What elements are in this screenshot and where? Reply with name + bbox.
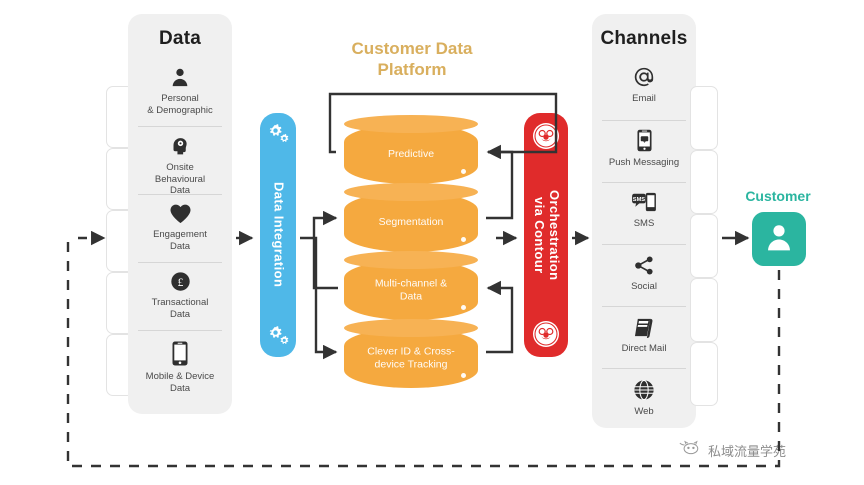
head-gear-icon (138, 135, 222, 162)
channel-item-social[interactable]: Social (602, 244, 686, 306)
cdp-layer-label: Multi-channel &Data (350, 278, 472, 303)
data-integration-bar[interactable]: Data Integration (260, 113, 296, 357)
share-icon (602, 255, 686, 281)
channels-bracket-notch-4 (690, 278, 718, 342)
cdp-layer-label: Clever ID & Cross-device Tracking (350, 346, 472, 371)
arrow-segmentation-to-predictive (486, 152, 512, 218)
channel-item-web[interactable]: Web (602, 368, 686, 430)
data-item-list: Personal& Demographic Onsite Behavioural… (138, 60, 222, 406)
cylinder-cap (344, 115, 478, 133)
data-item-label: Onsite BehaviouralData (138, 162, 222, 197)
cdp-title: Customer Data Platform (326, 38, 498, 80)
data-item-label: TransactionalData (138, 297, 222, 320)
diagram-canvas: Data Personal& Demographic Onsite Behavi… (0, 0, 864, 485)
channels-panel-title: Channels (592, 28, 696, 50)
cylinder-status-dot (461, 169, 466, 174)
cdp-layer-segmentation[interactable]: Segmentation (344, 192, 478, 252)
data-item-label: Mobile & DeviceData (138, 371, 222, 394)
arrow-multichannel-to-segmentation (314, 218, 338, 288)
at-sign-icon (602, 66, 686, 93)
globe-icon (602, 379, 686, 406)
data-item-personal[interactable]: Personal& Demographic (138, 60, 222, 126)
customer-avatar-icon (763, 221, 795, 258)
watermark: 私域流量学苑 (678, 440, 786, 460)
data-item-transactional[interactable]: £ TransactionalData (138, 262, 222, 330)
data-item-label: Personal& Demographic (138, 93, 222, 116)
cdp-layer-clever-id[interactable]: Clever ID & Cross-device Tracking (344, 328, 478, 388)
cylinder-status-dot (461, 237, 466, 242)
data-panel: Data Personal& Demographic Onsite Behavi… (128, 14, 232, 414)
contour-logo-icon (524, 320, 568, 348)
customer-label: Customer (722, 188, 834, 204)
customer-box[interactable] (752, 212, 806, 266)
data-item-engagement[interactable]: EngagementData (138, 194, 222, 262)
channels-bracket-notch-3 (690, 214, 718, 278)
data-item-mobile-device[interactable]: Mobile & DeviceData (138, 330, 222, 402)
sms-icon: SMS (602, 191, 686, 218)
cylinder-cap (344, 183, 478, 201)
channel-item-direct-mail[interactable]: Direct Mail (602, 306, 686, 368)
arrow-cleverid-to-multichannel (486, 288, 512, 352)
svg-text:£: £ (177, 277, 183, 289)
channels-bracket-notch-2 (690, 150, 718, 214)
data-item-onsite-behavioural[interactable]: Onsite BehaviouralData (138, 126, 222, 194)
cylinder-status-dot (461, 373, 466, 378)
orchestration-bar[interactable]: Orchestrationvia Contour (524, 113, 568, 357)
channel-item-label: Web (602, 406, 686, 418)
channels-bracket-notch-1 (690, 86, 718, 150)
channel-item-label: Push Messaging (602, 157, 686, 169)
data-integration-label: Data Integration (260, 113, 296, 357)
cdp-layer-multichannel[interactable]: Multi-channel &Data (344, 260, 478, 320)
cdp-title-line2: Platform (378, 60, 447, 79)
data-panel-title: Data (128, 28, 232, 50)
channels-panel: Channels Email Push Messaging SMS SMS (592, 14, 696, 428)
watermark-text: 私域流量学苑 (708, 441, 786, 460)
channel-item-push[interactable]: Push Messaging (602, 120, 686, 182)
svg-text:SMS: SMS (633, 197, 646, 203)
channels-bracket-notch-5 (690, 342, 718, 406)
channel-item-label: SMS (602, 218, 686, 230)
person-icon (138, 66, 222, 93)
cdp-title-line1: Customer Data (352, 39, 473, 58)
cylinder-cap (344, 319, 478, 337)
cat-face-icon (678, 440, 702, 460)
gears-icon (260, 325, 296, 347)
arrow-integration-to-cleverid (300, 238, 336, 352)
channel-item-label: Email (602, 93, 686, 105)
cylinder-status-dot (461, 305, 466, 310)
data-item-label: EngagementData (138, 229, 222, 252)
cylinder-cap (344, 251, 478, 269)
cdp-layer-label: Predictive (350, 148, 472, 161)
channel-item-email[interactable]: Email (602, 60, 686, 120)
push-notification-icon (602, 129, 686, 157)
mobile-phone-icon (138, 341, 222, 371)
channel-item-label: Social (602, 281, 686, 293)
channel-item-sms[interactable]: SMS SMS (602, 182, 686, 244)
cdp-layer-predictive[interactable]: Predictive (344, 124, 478, 184)
cdp-layer-label: Segmentation (350, 216, 472, 229)
channel-item-label: Direct Mail (602, 343, 686, 355)
heart-icon (138, 203, 222, 229)
pound-coin-icon: £ (138, 271, 222, 297)
envelope-book-icon (602, 317, 686, 343)
channels-item-list: Email Push Messaging SMS SMS Social (602, 60, 686, 420)
